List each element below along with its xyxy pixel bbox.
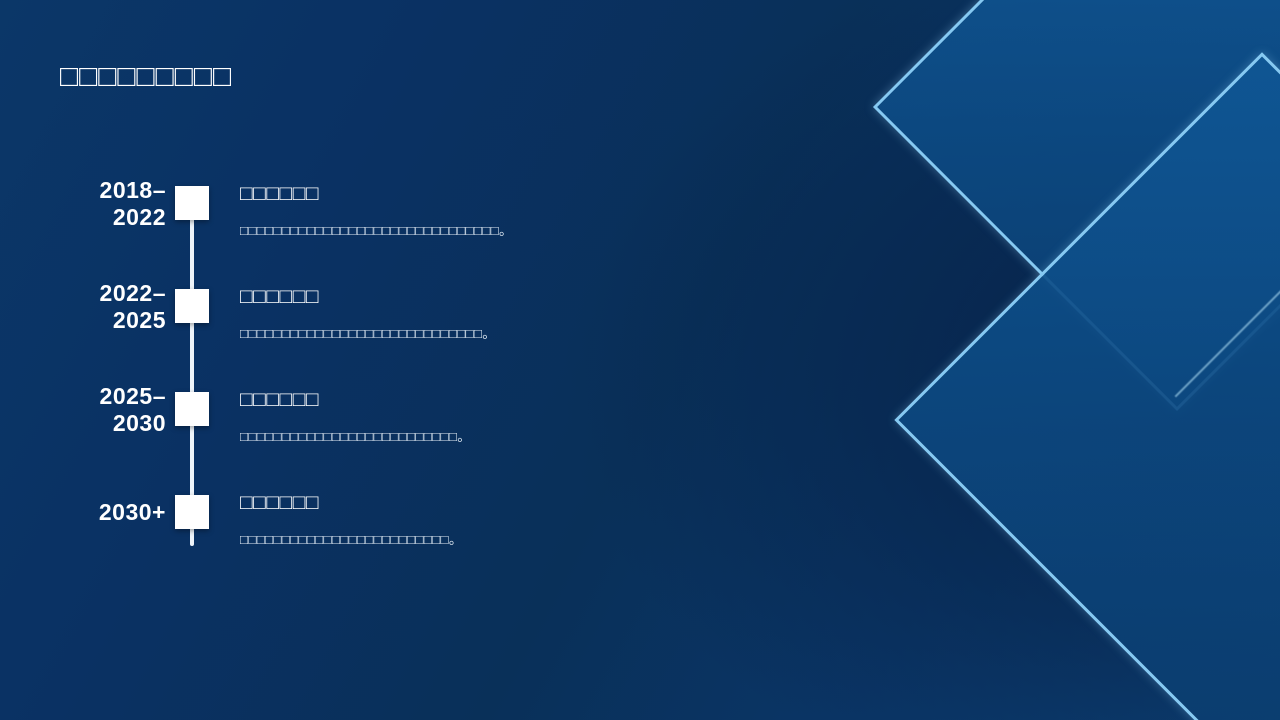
timeline-entry-1[interactable]: 2018–2022 □□□□□□ □□□□□□□□□□□□□□□□□□□□□□□… <box>0 168 860 271</box>
rotated-square-lower-icon <box>894 52 1280 720</box>
timeline-entry-2[interactable]: 2022–2025 □□□□□□ □□□□□□□□□□□□□□□□□□□□□□□… <box>0 271 860 374</box>
timeline-heading-4: □□□□□□ <box>240 489 860 516</box>
timeline-marker-1[interactable] <box>175 186 209 220</box>
timeline-heading-1: □□□□□□ <box>240 180 860 207</box>
timeline-content-1: □□□□□□ □□□□□□□□□□□□□□□□□□□□□□□□□□□□□□□。 <box>240 180 860 242</box>
timeline-content-2: □□□□□□ □□□□□□□□□□□□□□□□□□□□□□□□□□□□□。 <box>240 283 860 345</box>
timeline-content-3: □□□□□□ □□□□□□□□□□□□□□□□□□□□□□□□□□。 <box>240 386 860 448</box>
timeline-year-label-1: 2018–2022 <box>0 177 166 231</box>
timeline-heading-2: □□□□□□ <box>240 283 860 310</box>
timeline-description-4: □□□□□□□□□□□□□□□□□□□□□□□□□。 <box>240 530 860 550</box>
timeline-year-label-4: 2030+ <box>0 499 166 526</box>
timeline: 2018–2022 □□□□□□ □□□□□□□□□□□□□□□□□□□□□□□… <box>0 168 860 580</box>
timeline-content-4: □□□□□□ □□□□□□□□□□□□□□□□□□□□□□□□□。 <box>240 489 860 551</box>
timeline-year-label-2: 2022–2025 <box>0 280 166 334</box>
timeline-marker-2[interactable] <box>175 289 209 323</box>
timeline-description-3: □□□□□□□□□□□□□□□□□□□□□□□□□□。 <box>240 427 860 447</box>
timeline-marker-4[interactable] <box>175 495 209 529</box>
timeline-description-2: □□□□□□□□□□□□□□□□□□□□□□□□□□□□□。 <box>240 324 860 344</box>
timeline-description-1: □□□□□□□□□□□□□□□□□□□□□□□□□□□□□□□。 <box>240 221 860 241</box>
page-title: □□□□□□□□□ <box>60 58 232 96</box>
slide-canvas: □□□□□□□□□ 2018–2022 □□□□□□ □□□□□□□□□□□□□… <box>0 0 1280 720</box>
timeline-marker-3[interactable] <box>175 392 209 426</box>
timeline-entry-4[interactable]: 2030+ □□□□□□ □□□□□□□□□□□□□□□□□□□□□□□□□。 <box>0 477 860 580</box>
rotated-square-highlight-icon <box>878 0 1280 397</box>
timeline-year-label-3: 2025–2030 <box>0 383 166 437</box>
timeline-heading-3: □□□□□□ <box>240 386 860 413</box>
timeline-entry-3[interactable]: 2025–2030 □□□□□□ □□□□□□□□□□□□□□□□□□□□□□□… <box>0 374 860 477</box>
rotated-square-upper-icon <box>873 0 1280 411</box>
